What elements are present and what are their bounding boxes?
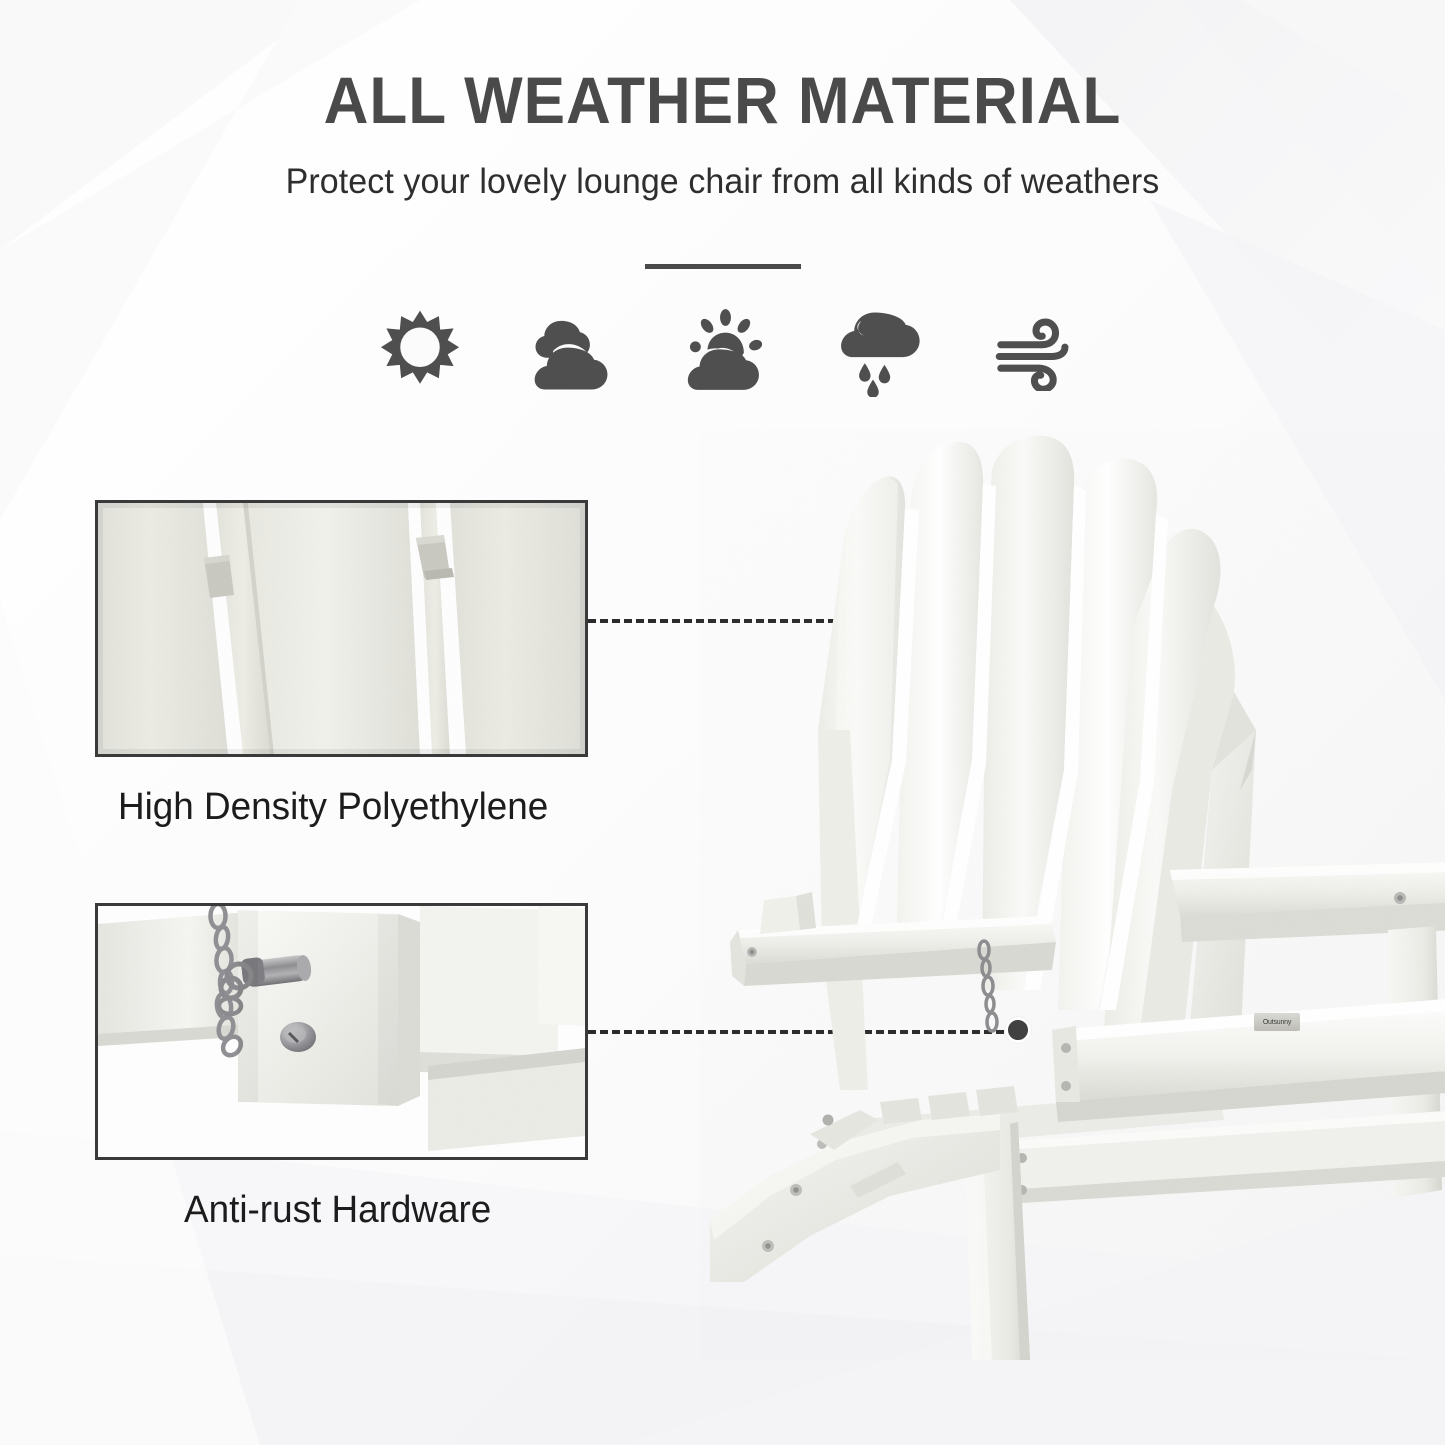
wind-icon	[988, 303, 1084, 399]
header: ALL WEATHER MATERIAL Protect your lovely…	[0, 66, 1445, 202]
rain-icon	[834, 303, 930, 399]
caption-polyethylene: High Density Polyethylene	[118, 786, 548, 829]
page-title: ALL WEATHER MATERIAL	[43, 66, 1401, 136]
infographic-canvas: ALL WEATHER MATERIAL Protect your lovely…	[0, 0, 1445, 1445]
caption-hardware: Anti-rust Hardware	[184, 1189, 491, 1232]
weather-icon-row	[372, 303, 1084, 399]
detail-box-hardware	[95, 903, 588, 1160]
hdpe-slat-closeup	[98, 503, 585, 754]
partly-cloudy-icon	[680, 303, 776, 399]
brand-label-text: Outsunny	[1263, 1019, 1291, 1026]
detail-box-polyethylene	[95, 500, 588, 757]
sun-icon	[372, 303, 468, 399]
brand-label-plate: Outsunny	[1254, 1013, 1300, 1031]
header-divider	[645, 264, 801, 269]
cloudy-icon	[526, 303, 622, 399]
page-subtitle: Protect your lovely lounge chair from al…	[22, 162, 1424, 202]
hardware-closeup	[98, 906, 585, 1157]
adirondack-chair-product-image	[700, 430, 1445, 1360]
